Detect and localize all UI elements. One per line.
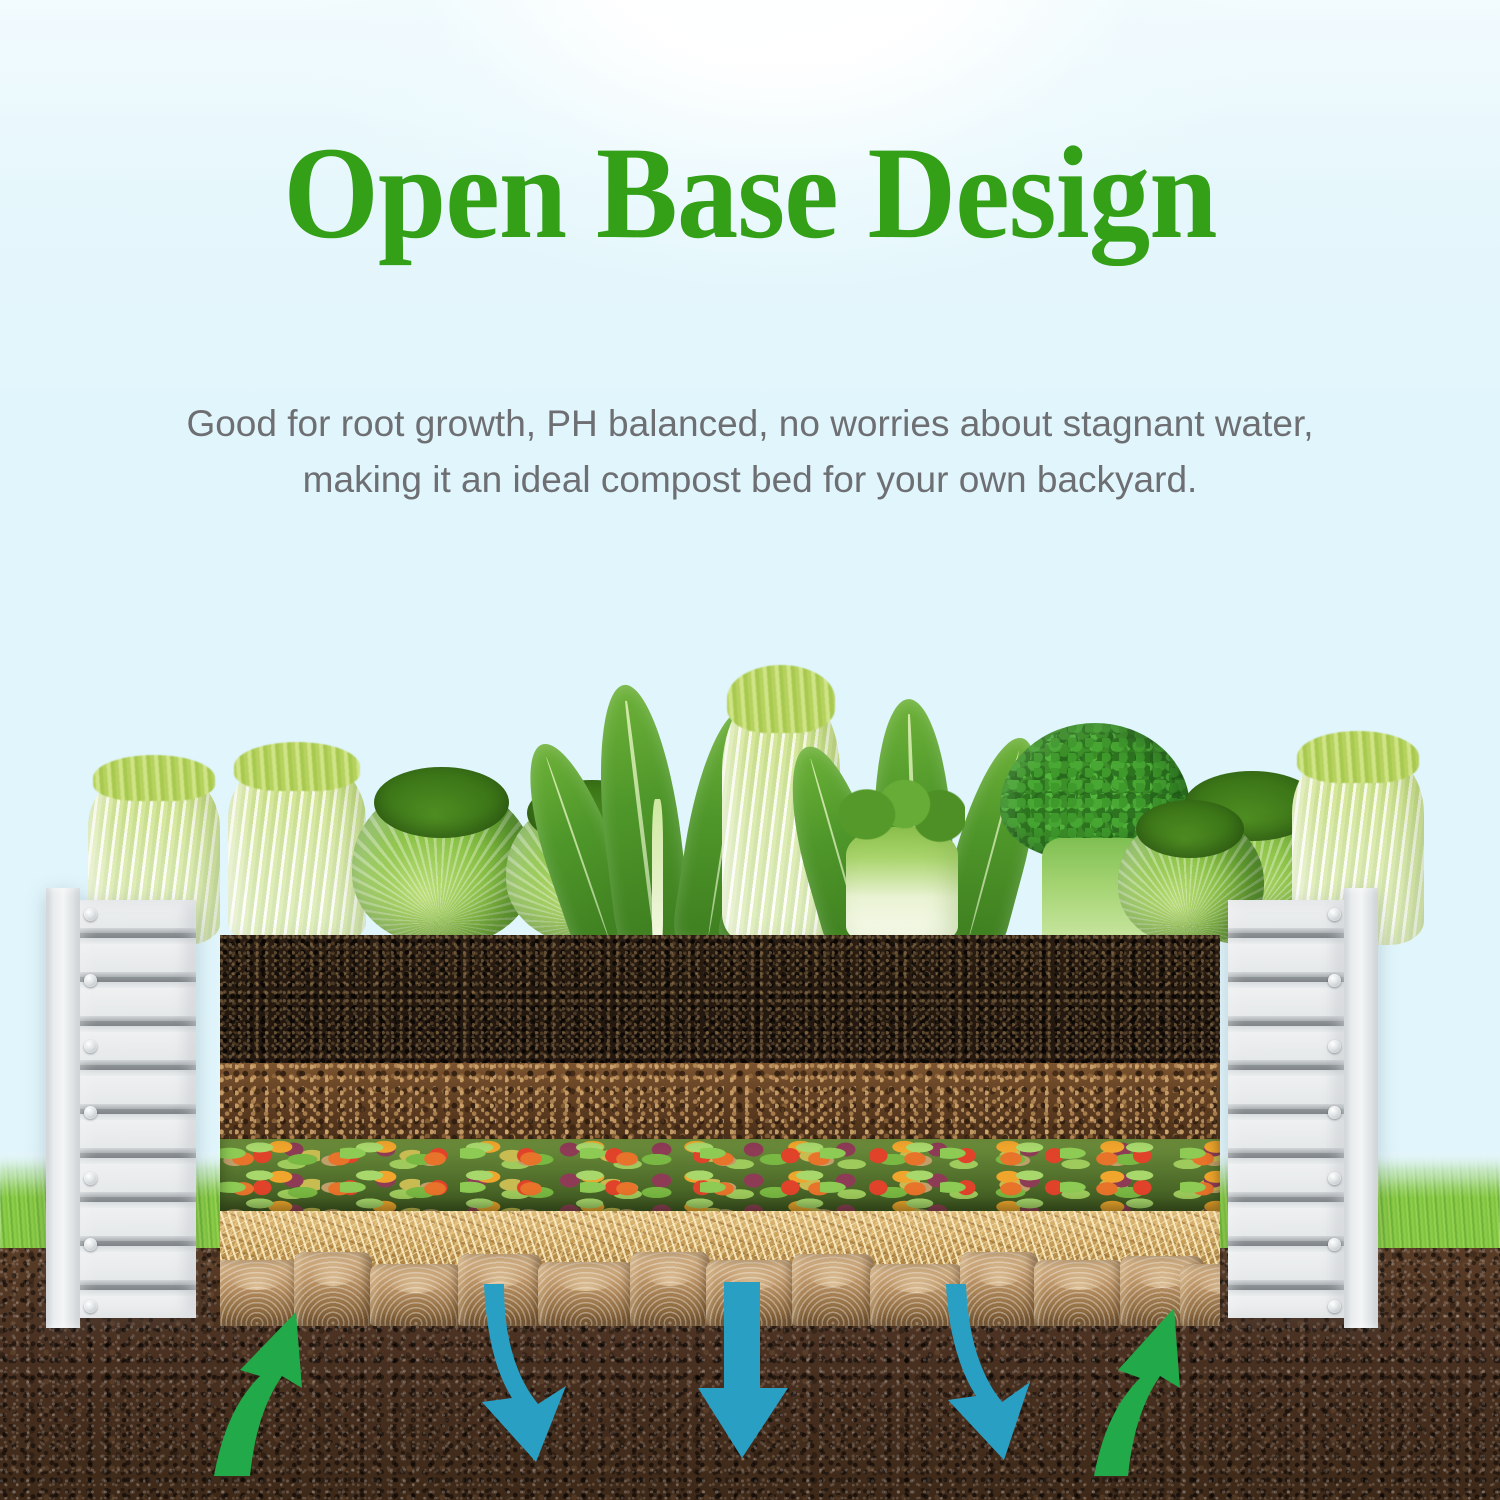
- drainage-down-arrow-2: [690, 1280, 800, 1470]
- drainage-down-arrow-1: [470, 1282, 590, 1472]
- airflow-up-right-arrow: [1068, 1288, 1208, 1478]
- drainage-down-arrow-3: [936, 1282, 1056, 1472]
- airflow-up-left-arrow: [196, 1290, 336, 1480]
- flow-arrow-group: [0, 0, 1500, 1500]
- infographic-canvas: Open Base Design Good for root growth, P…: [0, 0, 1500, 1500]
